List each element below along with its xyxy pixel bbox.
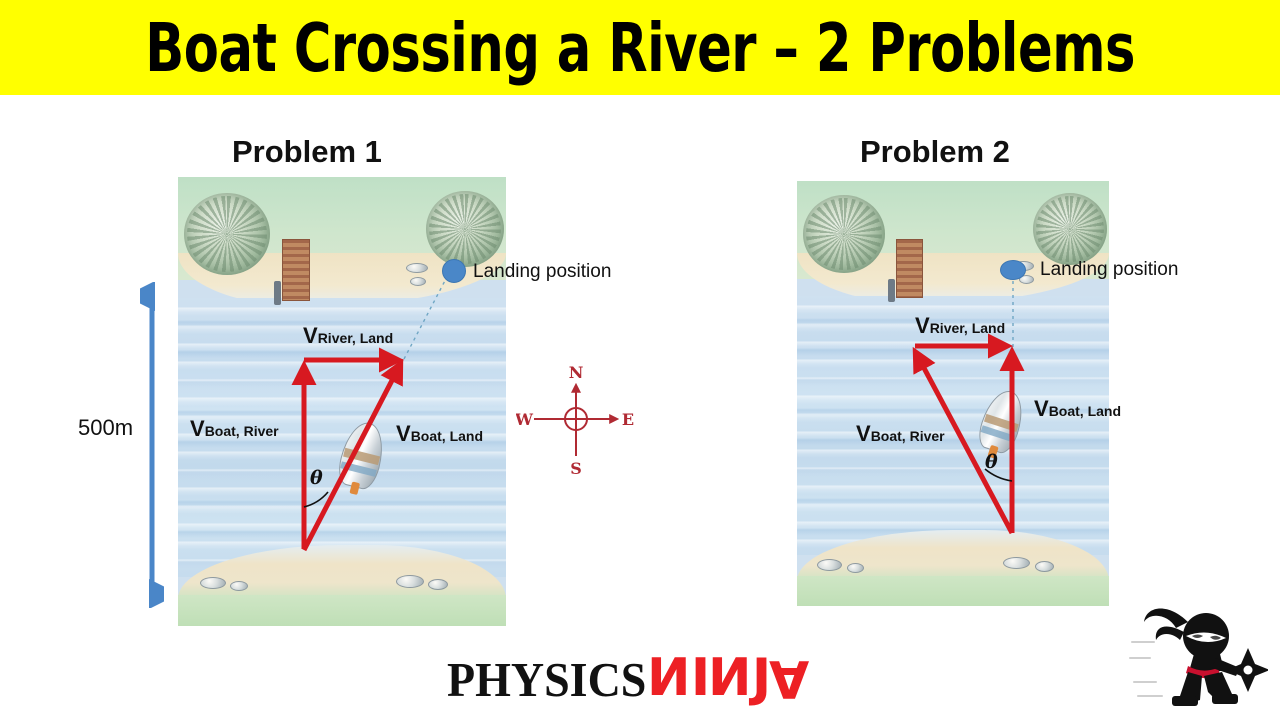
vector-subscript: Boat, Land <box>411 428 483 444</box>
problem-1-heading: Problem 1 <box>232 134 382 170</box>
logo-ninja-word: NINJA <box>648 648 809 708</box>
landing-position-label-1: Landing position <box>473 261 611 283</box>
vector-symbol: V <box>190 416 205 441</box>
vector-label-boat-land-2: VBoat, Land <box>1034 398 1121 420</box>
vector-arrows-problem-1 <box>178 177 506 626</box>
compass-north-label: N <box>569 363 584 382</box>
vector-arrows-problem-2 <box>797 181 1109 606</box>
logo-n2: N <box>709 648 752 708</box>
ninja-mascot-icon <box>1128 596 1268 714</box>
compass-east-label: E <box>622 410 634 429</box>
title-banner: Boat Crossing a River – 2 Problems <box>0 0 1280 95</box>
river-width-label: 500m <box>78 415 133 441</box>
logo-physics-word: PHYSICS <box>447 652 646 708</box>
logo-i: I <box>691 648 709 708</box>
compass-rose-icon: N S E W <box>516 362 636 477</box>
vector-symbol: V <box>915 313 930 338</box>
vector-label-river-land-1: VRiver, Land <box>303 325 393 347</box>
title-text: Boat Crossing a River – 2 Problems <box>145 8 1135 86</box>
angle-theta-label-2: θ <box>985 451 998 473</box>
vector-subscript: River, Land <box>930 320 1005 336</box>
angle-theta-label-1: θ <box>310 467 323 489</box>
logo-j: J <box>752 648 770 708</box>
vector-label-boat-land-1: VBoat, Land <box>396 423 483 445</box>
landing-position-label-2: Landing position <box>1040 259 1178 281</box>
problem-1-scene: θ <box>178 177 506 626</box>
physics-ninja-logo: PHYSICS NINJA <box>447 648 809 700</box>
vector-boat-land-arrow <box>304 365 400 550</box>
vector-label-boat-river-2: VBoat, River <box>856 423 945 445</box>
logo-n1: N <box>648 648 691 708</box>
river-width-measure-arrow <box>140 282 164 608</box>
vector-subscript: Boat, River <box>205 423 279 439</box>
vector-label-river-land-2: VRiver, Land <box>915 315 1005 337</box>
angle-arc <box>304 492 328 507</box>
logo-a: A <box>770 648 809 708</box>
compass-south-label: S <box>570 459 582 477</box>
vector-symbol: V <box>396 421 411 446</box>
vector-symbol: V <box>303 323 318 348</box>
slide-canvas: Boat Crossing a River – 2 Problems Probl… <box>0 0 1280 720</box>
vector-label-boat-river-1: VBoat, River <box>190 418 279 440</box>
compass-west-label: W <box>516 410 534 429</box>
vector-subscript: River, Land <box>318 330 393 346</box>
problem-2-heading: Problem 2 <box>860 134 1010 170</box>
vector-symbol: V <box>1034 396 1049 421</box>
vector-subscript: Boat, River <box>871 428 945 444</box>
vector-symbol: V <box>856 421 871 446</box>
problem-2-scene: θ <box>797 181 1109 606</box>
throwing-star-icon <box>1227 648 1268 692</box>
vector-subscript: Boat, Land <box>1049 403 1121 419</box>
